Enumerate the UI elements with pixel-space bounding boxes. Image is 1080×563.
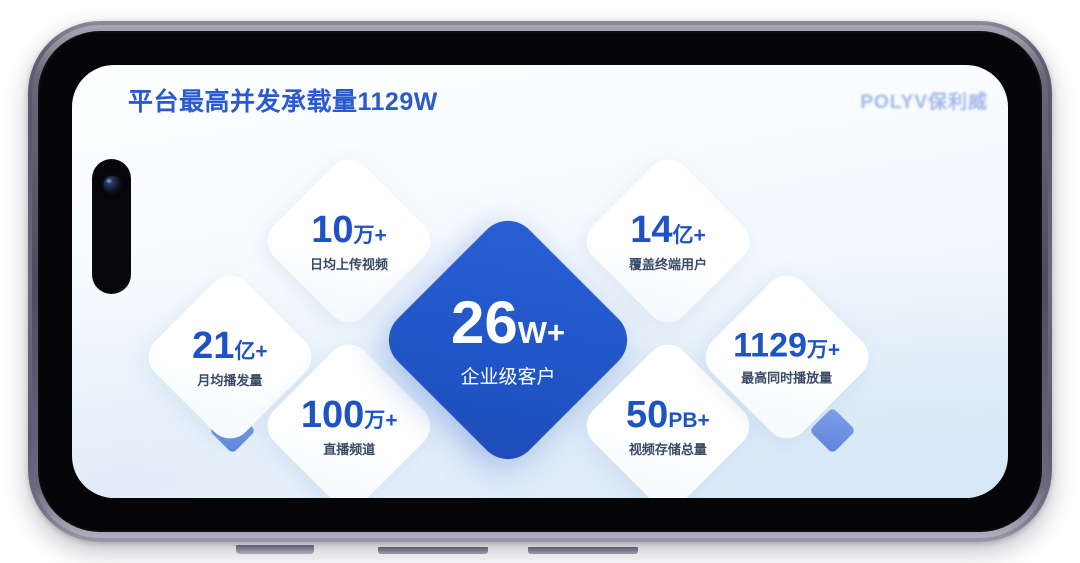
stat-caption: 最高同时播放量 [733,372,840,385]
stat-number: 14 [630,211,672,249]
stat-caption: 企业级客户 [451,368,565,387]
stat-caption: 直播频道 [301,443,398,456]
stat-number: 100 [301,396,364,434]
stat-caption: 视频存储总量 [626,443,710,456]
stat-unit: 亿+ [673,225,706,246]
stat-caption: 日均上传视频 [310,258,388,271]
stat-unit: PB+ [668,410,709,431]
screenshot-root: 平台最高并发承载量1129W POLYV保利威 21亿+ 月均播发量 [0,0,1080,563]
sim-tray[interactable] [528,547,638,554]
stat-unit: W+ [518,317,565,348]
stat-number: 21 [192,327,234,365]
stat-unit: 万+ [807,340,840,361]
stat-number: 10 [311,211,353,249]
power-button[interactable] [378,547,488,554]
page-title: 平台最高并发承载量1129W [128,82,438,118]
phone-screen: 平台最高并发承载量1129W POLYV保利威 21亿+ 月均播发量 [72,65,1008,498]
stat-number: 26 [451,293,518,353]
stat-number: 50 [626,396,668,434]
phone-bezel: 平台最高并发承载量1129W POLYV保利威 21亿+ 月均播发量 [38,31,1042,532]
stat-unit: 万+ [354,225,387,246]
stat-caption: 覆盖终端用户 [629,258,707,271]
action-button[interactable] [236,545,314,554]
slide-content: 平台最高并发承载量1129W POLYV保利威 21亿+ 月均播发量 [72,65,1008,498]
stat-unit: 亿+ [235,341,268,362]
dynamic-island [92,159,131,294]
stat-number: 1129 [733,329,807,363]
front-camera-icon [103,176,120,193]
stat-unit: 万+ [364,410,397,431]
polyv-brand-logo: POLYV保利威 [860,87,988,114]
phone-device-frame: 平台最高并发承载量1129W POLYV保利威 21亿+ 月均播发量 [28,21,1052,542]
stat-caption: 月均播发量 [192,374,268,387]
